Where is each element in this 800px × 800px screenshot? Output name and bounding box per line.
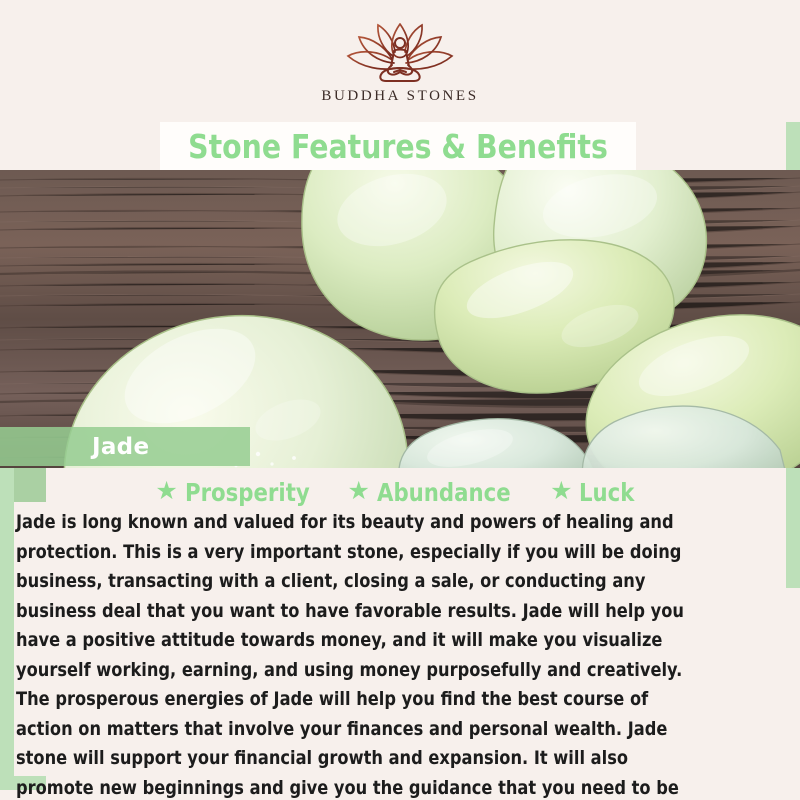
keyword-item: ★ Luck [550,478,645,507]
brand-header: BUDDHA STONES [0,0,800,122]
keyword-item: ★ Prosperity [155,478,331,507]
title-banner: Stone Features & Benefits [160,122,636,170]
keyword-label-luck: Luck [579,478,634,507]
star-icon: ★ [347,479,369,504]
page-title: Stone Features & Benefits [188,127,608,166]
keyword-label-abundance: Abundance [377,478,511,507]
stone-name-band: Jade [0,427,250,466]
stone-name-label: Jade [92,434,149,460]
stone-description: Jade is long known and valued for its be… [16,508,686,800]
brand-name: BUDDHA STONES [321,88,478,105]
stone-info-poster: BUDDHA STONES Stone Features & Benefits [0,0,800,800]
keyword-item: ★ Abundance [347,478,534,507]
keyword-label-prosperity: Prosperity [185,478,310,507]
lotus-meditation-figure-icon [330,20,470,82]
star-icon: ★ [155,479,177,504]
star-icon: ★ [550,479,572,504]
stone-photo [0,170,800,468]
stone-keywords: ★ Prosperity ★ Abundance ★ Luck [0,478,800,507]
